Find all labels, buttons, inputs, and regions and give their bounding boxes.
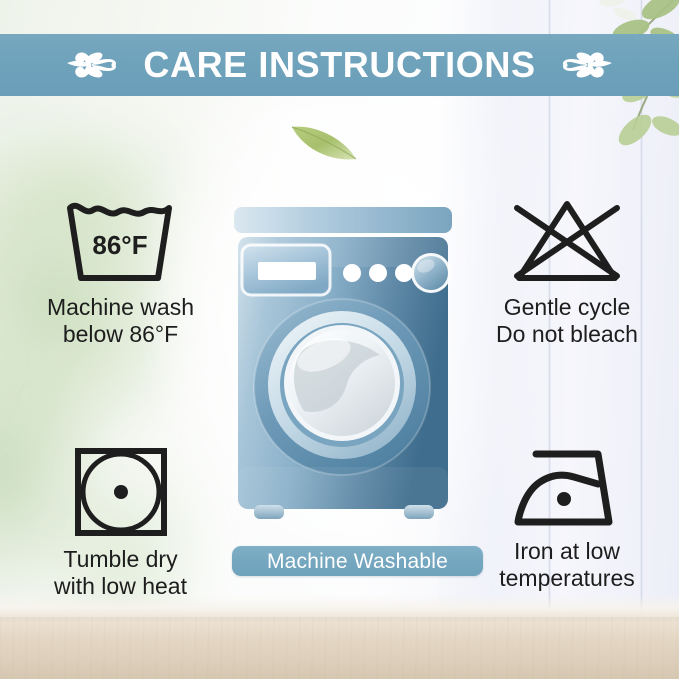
badge-label: Machine Washable	[267, 551, 448, 572]
wash-tub-icon: 86°F	[62, 196, 180, 288]
triangle-crossed-out-icon	[505, 196, 629, 288]
machine-knob	[411, 253, 451, 293]
machine-door	[254, 299, 430, 475]
care-symbol-label: Machine wash below 86°F	[47, 294, 194, 348]
care-symbol-label: Gentle cycle Do not bleach	[496, 294, 638, 348]
header-banner: CARE INSTRUCTIONS	[0, 34, 679, 96]
machine-top-lid	[234, 207, 452, 233]
care-symbol-tumble-dry-low: Tumble dry with low heat	[18, 444, 223, 600]
care-symbol-iron-low: Iron at low temperatures	[462, 444, 672, 592]
tumble-dry-square-icon	[71, 444, 171, 540]
wash-temperature-value: 86°F	[92, 230, 147, 260]
iron-icon	[506, 444, 628, 532]
care-instructions-graphic: CARE INSTRUCTIONS 86°F Machine wash belo…	[0, 0, 679, 679]
fleur-de-lis-icon-right	[558, 47, 616, 83]
page-title: CARE INSTRUCTIONS	[143, 47, 535, 83]
detergent-drawer	[242, 245, 330, 295]
care-symbol-machine-wash: 86°F Machine wash below 86°F	[18, 196, 223, 348]
washing-machine-illustration	[228, 205, 458, 535]
care-symbol-do-not-bleach: Gentle cycle Do not bleach	[462, 196, 672, 348]
machine-washable-badge: Machine Washable	[232, 546, 483, 576]
wood-grain-texture	[0, 617, 679, 679]
fleur-de-lis-icon-left	[63, 47, 121, 83]
care-symbol-label: Iron at low temperatures	[499, 538, 635, 592]
care-symbol-label: Tumble dry with low heat	[54, 546, 187, 600]
machine-control-buttons	[343, 264, 413, 282]
